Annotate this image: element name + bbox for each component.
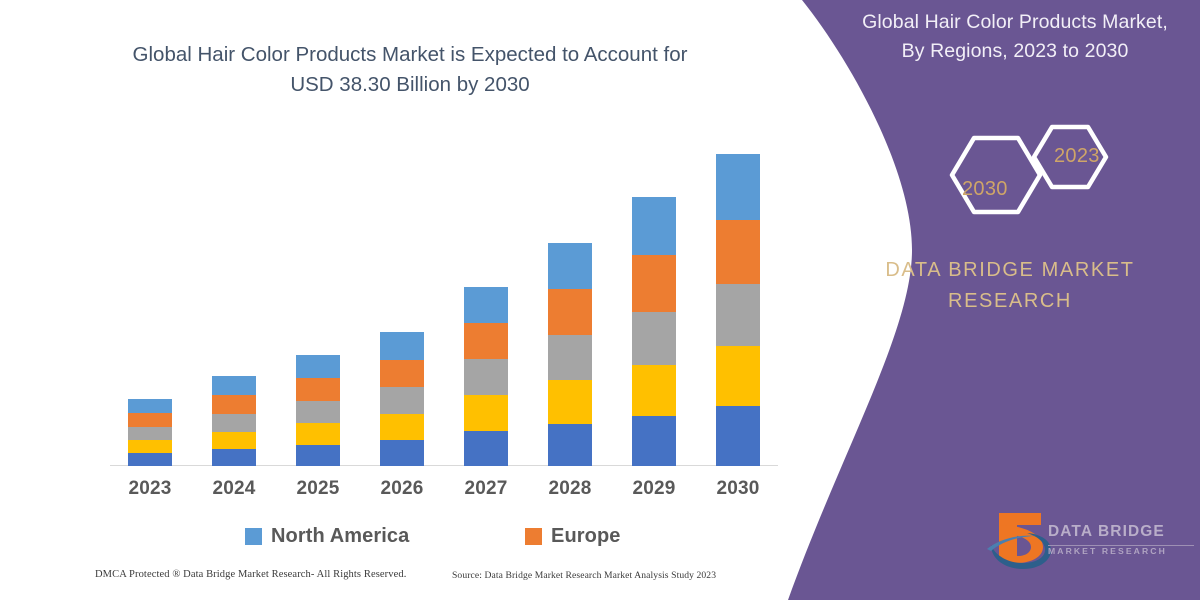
stacked-bar[interactable] xyxy=(128,399,172,466)
bar-segment[interactable] xyxy=(128,440,172,453)
bar-segment[interactable] xyxy=(464,431,508,466)
chart-title: Global Hair Color Products Market is Exp… xyxy=(60,40,760,100)
footer-source: Source: Data Bridge Market Research Mark… xyxy=(452,570,716,581)
x-axis-label-2028: 2028 xyxy=(542,478,598,504)
x-axis-label-2025: 2025 xyxy=(290,478,346,504)
x-axis-label-2026: 2026 xyxy=(374,478,430,504)
stacked-bar[interactable] xyxy=(380,332,424,466)
hexagon-group: 2023 2030 xyxy=(930,110,1150,240)
legend-item-north-america[interactable]: North America xyxy=(245,525,409,548)
bar-column-2023[interactable] xyxy=(122,399,178,466)
bar-group xyxy=(110,140,778,466)
bar-segment[interactable] xyxy=(296,401,340,423)
bar-segment[interactable] xyxy=(632,365,676,416)
x-axis-label-2024: 2024 xyxy=(206,478,262,504)
legend-label: North America xyxy=(271,525,409,548)
bar-segment[interactable] xyxy=(716,406,760,466)
legend-label: Europe xyxy=(551,525,621,548)
hexagon-outlines-icon xyxy=(930,110,1150,240)
bar-segment[interactable] xyxy=(464,323,508,359)
bar-segment[interactable] xyxy=(716,346,760,406)
bar-segment[interactable] xyxy=(632,255,676,312)
side-panel-title-line2: By Regions, 2023 to 2030 xyxy=(840,37,1190,66)
bar-segment[interactable] xyxy=(212,432,256,449)
x-axis-label-2023: 2023 xyxy=(122,478,178,504)
bar-column-2030[interactable] xyxy=(710,154,766,466)
bar-segment[interactable] xyxy=(632,416,676,466)
legend-swatch-icon xyxy=(525,528,542,545)
bar-segment[interactable] xyxy=(380,414,424,440)
bar-column-2025[interactable] xyxy=(290,355,346,466)
side-panel: Global Hair Color Products Market, By Re… xyxy=(780,0,1200,600)
brand-name: DATA BRIDGE MARKET RESEARCH xyxy=(820,255,1200,317)
bar-segment[interactable] xyxy=(548,424,592,466)
dbmr-logo-wordmark: DATA BRIDGE MARKET RESEARCH xyxy=(1048,523,1198,558)
bar-segment[interactable] xyxy=(548,335,592,380)
stacked-bar-chart xyxy=(110,140,778,466)
bar-segment[interactable] xyxy=(464,395,508,431)
bar-segment[interactable] xyxy=(128,413,172,427)
legend-swatch-icon xyxy=(245,528,262,545)
bar-segment[interactable] xyxy=(296,355,340,378)
bar-segment[interactable] xyxy=(380,387,424,414)
brand-line2: RESEARCH xyxy=(820,286,1200,317)
bar-segment[interactable] xyxy=(380,360,424,387)
x-axis-label-2029: 2029 xyxy=(626,478,682,504)
bar-segment[interactable] xyxy=(212,449,256,466)
stacked-bar[interactable] xyxy=(212,376,256,466)
hexagon-label-near: 2023 xyxy=(1054,145,1100,168)
dbmr-logo-divider xyxy=(1048,545,1194,546)
bar-segment[interactable] xyxy=(380,440,424,466)
bar-column-2024[interactable] xyxy=(206,376,262,466)
brand-line1: DATA BRIDGE MARKET xyxy=(885,259,1134,281)
x-axis-label-2027: 2027 xyxy=(458,478,514,504)
chart-legend: North America Europe xyxy=(110,525,710,557)
dbmr-logo-line2: MARKET RESEARCH xyxy=(1048,544,1198,558)
dbmr-logo-line1: DATA BRIDGE xyxy=(1048,523,1198,541)
x-axis-labels: 20232024202520262027202820292030 xyxy=(110,478,778,504)
bar-segment[interactable] xyxy=(632,197,676,255)
bar-segment[interactable] xyxy=(296,423,340,445)
stacked-bar[interactable] xyxy=(296,355,340,466)
bar-column-2029[interactable] xyxy=(626,197,682,466)
bar-segment[interactable] xyxy=(464,287,508,323)
stacked-bar[interactable] xyxy=(632,197,676,466)
x-axis-label-2030: 2030 xyxy=(710,478,766,504)
bar-segment[interactable] xyxy=(716,154,760,220)
bar-segment[interactable] xyxy=(128,399,172,413)
footer-copyright: DMCA Protected ® Data Bridge Market Rese… xyxy=(95,569,406,580)
bar-segment[interactable] xyxy=(464,359,508,395)
bar-segment[interactable] xyxy=(296,378,340,401)
chart-title-line1: Global Hair Color Products Market is Exp… xyxy=(133,43,688,66)
bar-segment[interactable] xyxy=(212,414,256,432)
legend-item-europe[interactable]: Europe xyxy=(525,525,621,548)
bar-segment[interactable] xyxy=(212,395,256,414)
bar-segment[interactable] xyxy=(380,332,424,360)
side-panel-title-line1: Global Hair Color Products Market, xyxy=(862,11,1168,33)
stacked-bar[interactable] xyxy=(548,243,592,466)
bar-segment[interactable] xyxy=(716,220,760,284)
bar-segment[interactable] xyxy=(548,243,592,289)
bar-segment[interactable] xyxy=(716,284,760,346)
bar-segment[interactable] xyxy=(632,312,676,365)
bar-column-2026[interactable] xyxy=(374,332,430,466)
hexagon-label-far: 2030 xyxy=(962,178,1008,201)
bar-column-2027[interactable] xyxy=(458,287,514,466)
bar-segment[interactable] xyxy=(128,427,172,440)
bar-segment[interactable] xyxy=(548,380,592,424)
side-panel-title: Global Hair Color Products Market, By Re… xyxy=(840,8,1190,66)
stacked-bar[interactable] xyxy=(464,287,508,466)
bar-segment[interactable] xyxy=(296,445,340,466)
infographic-root: Global Hair Color Products Market is Exp… xyxy=(0,0,1200,600)
bar-segment[interactable] xyxy=(128,453,172,466)
stacked-bar[interactable] xyxy=(716,154,760,466)
bar-segment[interactable] xyxy=(212,376,256,395)
bar-column-2028[interactable] xyxy=(542,243,598,466)
bar-segment[interactable] xyxy=(548,289,592,335)
chart-title-line2: USD 38.30 Billion by 2030 xyxy=(60,70,760,100)
